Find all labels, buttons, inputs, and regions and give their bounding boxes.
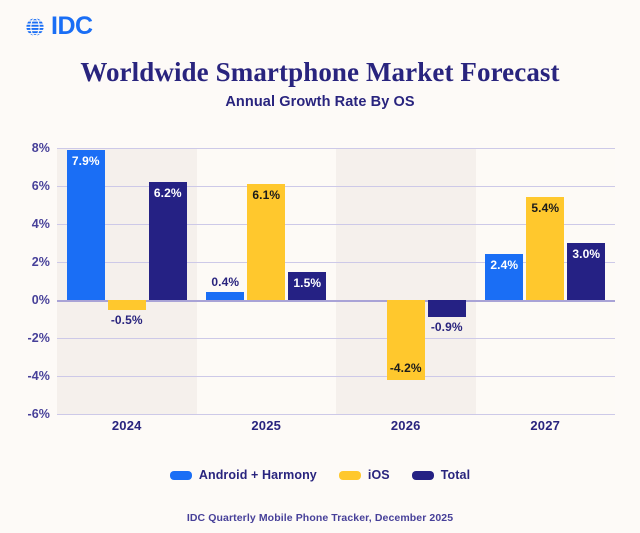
gridline--2 [57,338,615,339]
x-tick-label-2025: 2025 [197,418,337,433]
chart-plot-area: 7.9%-0.5%6.2%0.4%6.1%1.5%-4.2%-0.9%2.4%5… [57,148,615,414]
legend-label: Android + Harmony [199,468,317,482]
x-tick-label-2024: 2024 [57,418,197,433]
y-tick-label: 4% [0,217,50,231]
y-tick-label: 0% [0,293,50,307]
bar-value-label: 6.2% [149,186,187,200]
y-tick-label: 6% [0,179,50,193]
y-tick-label: -2% [0,331,50,345]
y-tick-label: 2% [0,255,50,269]
legend-item-total[interactable]: Total [412,468,470,482]
page-title: Worldwide Smartphone Market Forecast [0,57,640,88]
legend-label: iOS [368,468,390,482]
legend-item-android-harmony[interactable]: Android + Harmony [170,468,317,482]
x-tick-label-2026: 2026 [336,418,476,433]
legend-swatch-icon [412,471,434,480]
chart-legend: Android + HarmonyiOSTotal [0,468,640,482]
bar-value-label: -0.5% [108,313,146,327]
bar-value-label: 3.0% [567,247,605,261]
legend-item-ios[interactable]: iOS [339,468,390,482]
legend-swatch-icon [339,471,361,480]
idc-wordmark: IDC [51,14,93,39]
bar-value-label: 7.9% [67,154,105,168]
bar-value-label: 0.4% [206,275,244,289]
bar-value-label: 5.4% [526,201,564,215]
source-note: IDC Quarterly Mobile Phone Tracker, Dece… [0,512,640,524]
gridline-8 [57,148,615,149]
y-tick-label: 8% [0,141,50,155]
x-tick-label-2027: 2027 [476,418,616,433]
gridline-6 [57,186,615,187]
bar-android-harmony-2024[interactable] [67,150,105,300]
idc-globe-icon [24,16,46,38]
legend-swatch-icon [170,471,192,480]
gridline--4 [57,376,615,377]
legend-label: Total [441,468,470,482]
y-tick-label: -6% [0,407,50,421]
bar-value-label: 2.4% [485,258,523,272]
bar-value-label: 1.5% [288,276,326,290]
bar-total-2026[interactable] [428,300,466,317]
bar-value-label: 6.1% [247,188,285,202]
bar-value-label: -0.9% [428,320,466,334]
y-axis: 8%6%4%2%0%-2%-4%-6% [0,148,50,414]
bar-value-label: -4.2% [387,361,425,375]
page-subtitle: Annual Growth Rate By OS [0,94,640,110]
bar-android-harmony-2025[interactable] [206,292,244,300]
bar-ios-2024[interactable] [108,300,146,310]
gridline--6 [57,414,615,415]
y-tick-label: -4% [0,369,50,383]
idc-logo: IDC [24,14,93,39]
